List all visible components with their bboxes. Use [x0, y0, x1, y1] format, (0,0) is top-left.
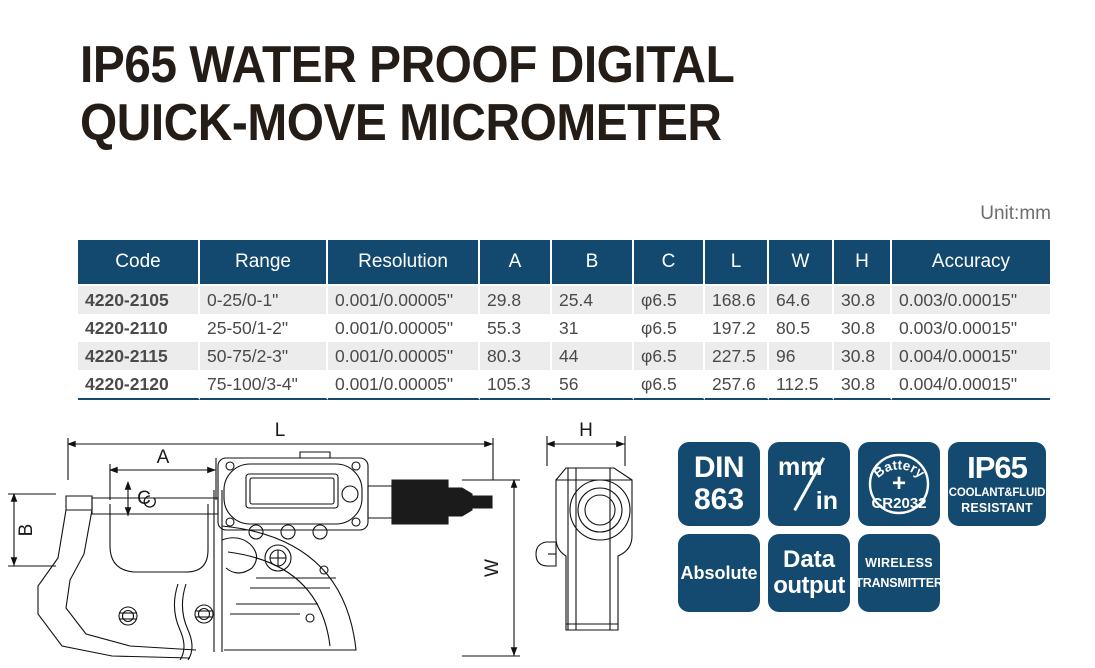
cell-code: 4220-2105 [78, 286, 200, 314]
cell-range: 0-25/0-1" [200, 286, 328, 314]
cell-l: 168.6 [705, 286, 769, 314]
cell-a: 55.3 [480, 314, 552, 342]
feature-badges: DIN 863 mm in Battery + CR2032 IP65 [678, 442, 1078, 620]
badge-ip65-coolant[interactable]: IP65 COOLANT&FLUID RESISTANT [948, 442, 1046, 526]
unit-label: Unit:mm [980, 203, 1051, 225]
badge-data-output[interactable]: Data output [768, 534, 850, 612]
badge-wireless-line2: TRANSMITTER [855, 573, 942, 593]
cell-range: 25-50/1-2" [200, 314, 328, 342]
badge-battery-cr2032[interactable]: Battery + CR2032 [858, 442, 940, 526]
cell-range: 50-75/2-3" [200, 342, 328, 370]
badge-row-1: DIN 863 mm in Battery + CR2032 IP65 [678, 442, 1078, 526]
column-header-range: Range [200, 240, 328, 286]
badge-ip65-line2: COOLANT&FLUID [949, 486, 1045, 501]
badge-din-line1: DIN [694, 452, 744, 484]
badge-ip65-line1: IP65 [967, 452, 1027, 483]
column-header-a: A [480, 240, 552, 286]
badge-row-2: Absolute Data output WIRELESS TRANSMITTE… [678, 534, 1078, 612]
dimension-label-b: B [16, 524, 37, 537]
table-row: 4220-2110 25-50/1-2" 0.001/0.00005" 55.3… [78, 314, 1050, 342]
cell-w: 112.5 [769, 370, 834, 400]
table-header-row: Code Range Resolution A B C L W H Accura… [78, 240, 1050, 286]
cell-c: φ6.5 [634, 342, 705, 370]
column-header-h: H [834, 240, 892, 286]
column-header-resolution: Resolution [328, 240, 480, 286]
cell-accuracy: 0.003/0.00015" [892, 314, 1050, 342]
cell-accuracy: 0.003/0.00015" [892, 286, 1050, 314]
badge-battery-line2: CR2032 [871, 495, 926, 512]
table-row: 4220-2120 75-100/3-4" 0.001/0.00005" 105… [78, 370, 1050, 400]
badge-mm-in[interactable]: mm in [768, 442, 850, 526]
column-header-code: Code [78, 240, 200, 286]
cell-a: 80.3 [480, 342, 552, 370]
cell-l: 257.6 [705, 370, 769, 400]
cell-c: φ6.5 [634, 314, 705, 342]
cell-code: 4220-2120 [78, 370, 200, 400]
cell-code: 4220-2115 [78, 342, 200, 370]
cell-h: 30.8 [834, 342, 892, 370]
cell-accuracy: 0.004/0.00015" [892, 370, 1050, 400]
badge-mm-line2: in [816, 487, 838, 516]
technical-drawing: L A B C [0, 418, 680, 668]
battery-circle-icon: Battery + CR2032 [862, 446, 936, 522]
cell-w: 64.6 [769, 286, 834, 314]
cell-range: 75-100/3-4" [200, 370, 328, 400]
cell-w: 80.5 [769, 314, 834, 342]
cell-b: 31 [552, 314, 634, 342]
column-header-l: L [705, 240, 769, 286]
specification-table: Code Range Resolution A B C L W H Accura… [78, 240, 1050, 400]
cell-b: 25.4 [552, 286, 634, 314]
cell-accuracy: 0.004/0.00015" [892, 342, 1050, 370]
column-header-b: B [552, 240, 634, 286]
badge-ip65-line3: RESISTANT [961, 501, 1033, 516]
cell-resolution: 0.001/0.00005" [328, 314, 480, 342]
badge-din-863[interactable]: DIN 863 [678, 442, 760, 526]
cell-resolution: 0.001/0.00005" [328, 342, 480, 370]
cell-l: 227.5 [705, 342, 769, 370]
cell-a: 29.8 [480, 286, 552, 314]
dimension-label-l: L [275, 420, 286, 441]
cell-l: 197.2 [705, 314, 769, 342]
cell-resolution: 0.001/0.00005" [328, 370, 480, 400]
badge-wireless-transmitter[interactable]: WIRELESS TRANSMITTER [858, 534, 940, 612]
cell-c: φ6.5 [634, 286, 705, 314]
cell-code: 4220-2110 [78, 314, 200, 342]
badge-data-line1: Data [783, 547, 835, 573]
table-row: 4220-2115 50-75/2-3" 0.001/0.00005" 80.3… [78, 342, 1050, 370]
dimension-label-a: A [157, 447, 170, 468]
cell-resolution: 0.001/0.00005" [328, 286, 480, 314]
cell-b: 44 [552, 342, 634, 370]
badge-battery-plus: + [892, 470, 906, 497]
cell-h: 30.8 [834, 314, 892, 342]
column-header-c: C [634, 240, 705, 286]
dimension-label-w: W [482, 559, 503, 577]
cell-a: 105.3 [480, 370, 552, 400]
badge-wireless-line1: WIRELESS [865, 553, 933, 573]
cell-c: φ6.5 [634, 370, 705, 400]
table-row: 4220-2105 0-25/0-1" 0.001/0.00005" 29.8 … [78, 286, 1050, 314]
cell-b: 56 [552, 370, 634, 400]
page-title: IP65 WATER PROOF DIGITAL QUICK-MOVE MICR… [80, 36, 963, 152]
dimension-label-h: H [579, 420, 593, 441]
cell-h: 30.8 [834, 370, 892, 400]
badge-absolute-line1: Absolute [680, 563, 757, 584]
cell-w: 96 [769, 342, 834, 370]
column-header-accuracy: Accuracy [892, 240, 1050, 286]
cell-h: 30.8 [834, 286, 892, 314]
badge-data-line2: output [773, 573, 845, 599]
badge-absolute[interactable]: Absolute [678, 534, 760, 612]
badge-din-line2: 863 [694, 484, 744, 516]
column-header-w: W [769, 240, 834, 286]
